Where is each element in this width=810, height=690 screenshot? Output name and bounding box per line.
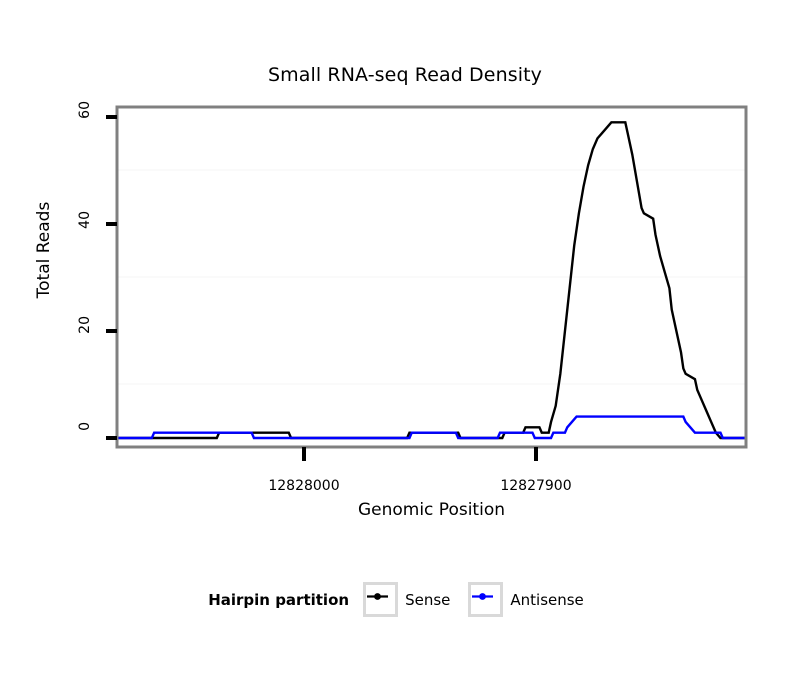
legend-title: Hairpin partition [208, 591, 349, 609]
legend-key-sense-icon [363, 582, 398, 617]
legend-entry-antisense[interactable]: Antisense [468, 582, 601, 617]
legend-label-antisense: Antisense [510, 591, 583, 609]
chart-figure: Small RNA-seq Read Density Total Reads G… [0, 0, 810, 690]
legend-key-antisense-icon [468, 582, 503, 617]
chart-legend: Hairpin partition Sense Antisense [0, 582, 810, 617]
legend-entry-sense[interactable]: Sense [363, 582, 468, 617]
legend-label-sense: Sense [405, 591, 450, 609]
